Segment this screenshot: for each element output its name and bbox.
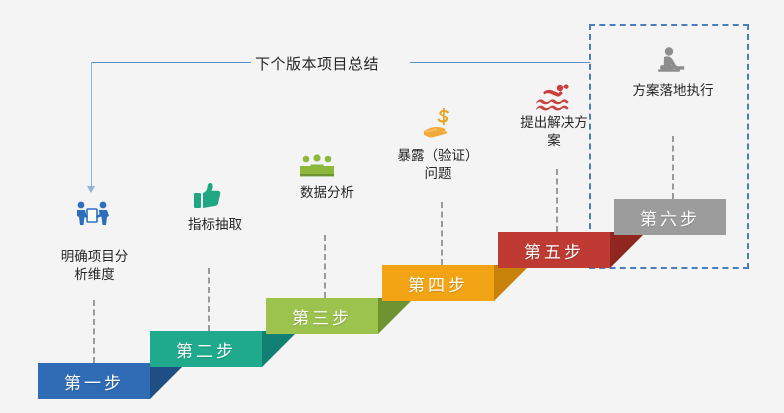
step-4-label: 第四步 (408, 271, 468, 296)
step-5-bar[interactable]: 第五步 (498, 232, 610, 268)
step-6-caption: 方案落地执行 (608, 82, 738, 100)
step-5-shadow (610, 232, 646, 268)
step-6-face: 第六步 (614, 199, 726, 235)
step-5-face: 第五步 (498, 232, 610, 268)
header-title: 下个版本项目总结 (255, 53, 379, 74)
connector-step-2 (208, 268, 210, 331)
step-2-label: 第二步 (176, 337, 236, 362)
flow-arrow-head-icon (87, 186, 95, 193)
step-2-caption: 指标抽取 (160, 216, 270, 234)
step-5-caption: 提出解决方 案 (500, 114, 608, 150)
step-6-bar[interactable]: 第六步 (614, 199, 726, 235)
hand-money-icon (420, 107, 460, 141)
step-4-shadow (494, 265, 530, 301)
connector-step-6 (672, 136, 674, 199)
step-1-shadow (150, 363, 186, 399)
step-4-face: 第四步 (382, 265, 494, 301)
connector-step-3 (324, 235, 326, 298)
flow-arrow-shaft (91, 62, 92, 187)
step-2-shadow (262, 331, 298, 367)
diagram-canvas: 下个版本项目总结 明确项目分 析维度 第一步 (0, 0, 784, 413)
seated-person-icon (652, 45, 692, 79)
step-3-bar[interactable]: 第三步 (266, 298, 378, 334)
step-3-label: 第三步 (292, 304, 352, 329)
connector-step-4 (441, 202, 443, 265)
step-4-bar[interactable]: 第四步 (382, 265, 494, 301)
step-1-label: 第一步 (64, 369, 124, 394)
step-5-label: 第五步 (524, 238, 584, 263)
step-2-bar[interactable]: 第二步 (150, 331, 262, 367)
step-1-caption: 明确项目分 析维度 (22, 248, 167, 284)
thumbs-up-icon (187, 178, 227, 212)
connector-step-5 (556, 169, 558, 232)
step-2-face: 第二步 (150, 331, 262, 367)
people-group-icon (297, 149, 337, 183)
header-line-right (410, 62, 590, 63)
swimmer-icon (536, 80, 576, 114)
step-4-caption: 暴露（验证） 问题 (378, 147, 498, 183)
step-3-face: 第三步 (266, 298, 378, 334)
step-1-face: 第一步 (38, 363, 150, 399)
header-line-left (91, 62, 251, 63)
step-3-caption: 数据分析 (272, 184, 382, 202)
two-people-board-icon (72, 198, 112, 232)
step-3-shadow (378, 298, 414, 334)
connector-step-1 (93, 300, 95, 363)
step-6-label: 第六步 (640, 205, 700, 230)
step-1-bar[interactable]: 第一步 (38, 363, 150, 399)
